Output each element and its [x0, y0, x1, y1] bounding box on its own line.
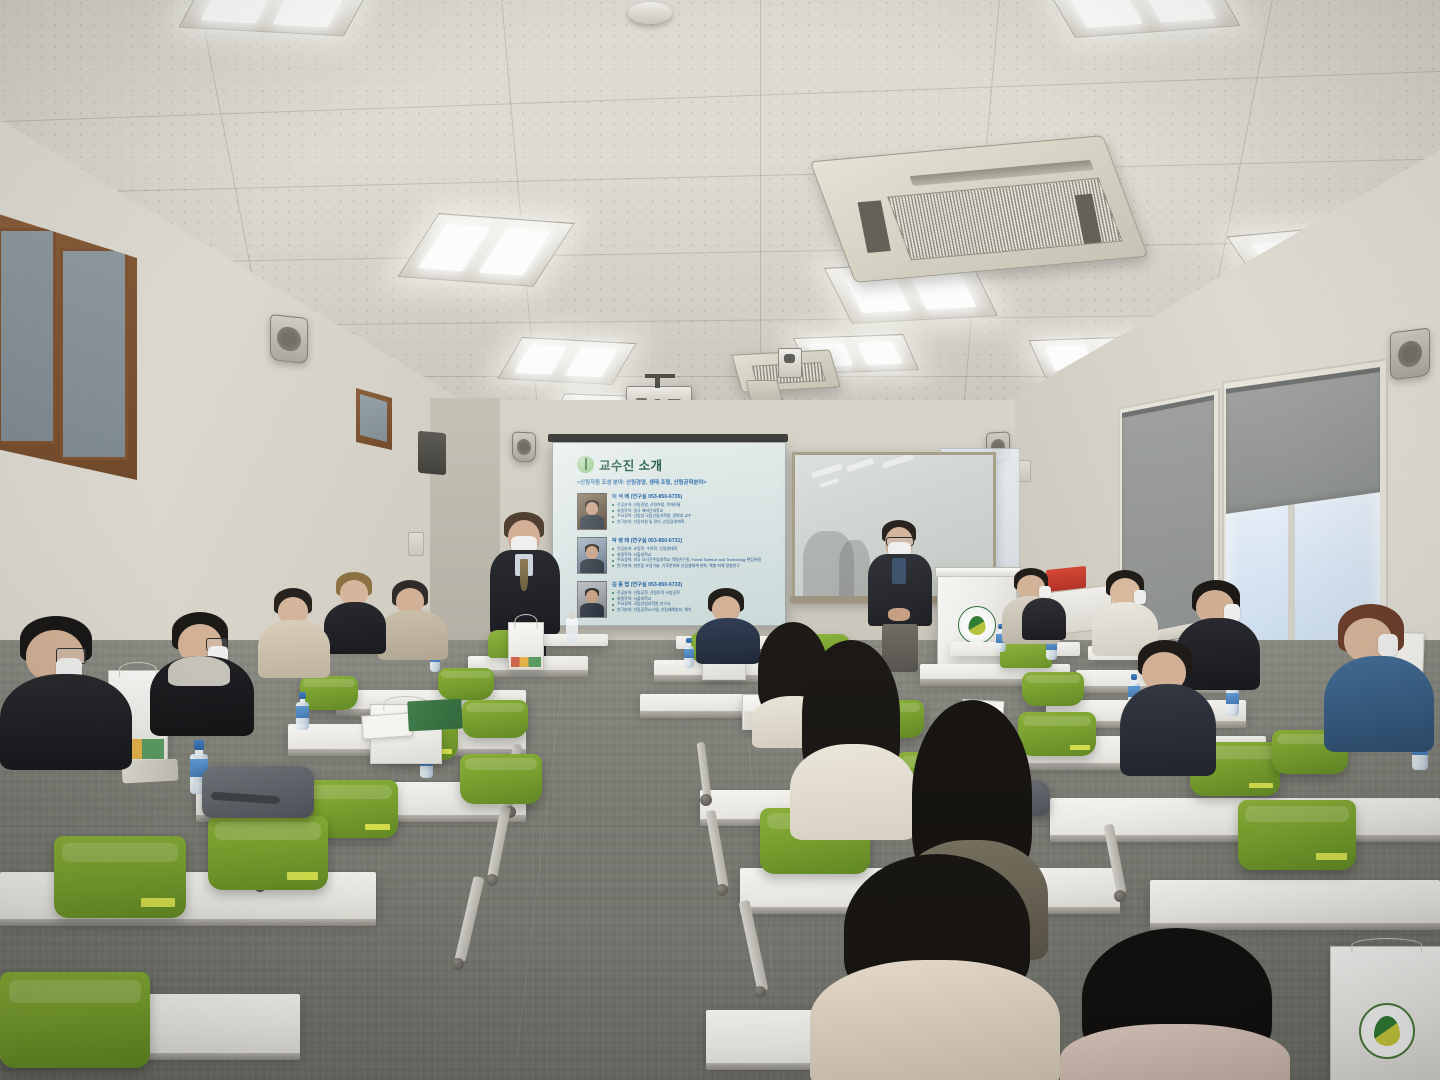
- wall-speaker: [270, 314, 308, 364]
- water-bottle: [684, 638, 694, 668]
- audience-member: [810, 854, 1060, 1080]
- intercom-panel[interactable]: [408, 532, 424, 556]
- professor-bullets: 전공분야: 산림경영, 산림측정, 목재유통 최종학력: 영국 애버딘대학교 주…: [612, 502, 692, 525]
- desk-caster: [716, 884, 728, 896]
- hand-sanitizer: [566, 618, 578, 644]
- professor-bullets: 전공분야: 조림학, 수목학, 산림생태학 최종학력: 서울대학교 주요경력: …: [612, 546, 761, 569]
- ceiling-cassette-air-conditioner: [810, 135, 1149, 283]
- audience-member: [378, 580, 448, 656]
- face-mask: [1134, 590, 1146, 604]
- ceiling-vent: [745, 380, 782, 402]
- green-classroom-chair[interactable]: [460, 754, 542, 804]
- slide-title-row: 교수진 소개: [577, 455, 662, 474]
- roller-blind[interactable]: [1226, 367, 1380, 514]
- university-seal-icon: [1359, 1003, 1415, 1059]
- slide-title: 교수진 소개: [599, 455, 662, 474]
- professor-bullet: 연구분야: 산림공학시스템, 산림재해방지, 해석: [612, 607, 692, 613]
- professor-photo: [577, 537, 607, 574]
- wooden-interior-window: [0, 212, 137, 480]
- professor-bullet: 연구분야: 산림자원 및 관리, 산림경영계획: [612, 519, 692, 525]
- classroom-desk: [1150, 880, 1440, 924]
- green-classroom-chair[interactable]: [1000, 640, 1052, 668]
- professor-name: 이 석 배 (연구실 053-850-6735): [612, 493, 692, 500]
- slide-subtitle: <산림자원 조성 분야: 산림경영, 생태·조림, 산림공학분야>: [577, 478, 706, 486]
- wall-speaker: [512, 431, 536, 462]
- water-bottle: [296, 692, 309, 730]
- dark-jacket: [324, 602, 386, 654]
- audience-member: [324, 572, 386, 652]
- professor-name: 박 병 태 (연구실 053-850-6731): [612, 537, 761, 544]
- smoke-detector: [628, 2, 672, 24]
- green-folder[interactable]: [407, 699, 462, 732]
- green-classroom-chair[interactable]: [54, 836, 186, 918]
- green-classroom-chair[interactable]: [462, 700, 528, 738]
- paper-gift-bag: [1330, 946, 1440, 1080]
- handout-paper[interactable]: [361, 712, 413, 739]
- beige-coat: [378, 610, 448, 660]
- audience-member: [1022, 576, 1066, 636]
- inner-shirt: [892, 558, 906, 584]
- audience-member: [1120, 640, 1216, 770]
- wooden-window-pane-small: [360, 394, 387, 442]
- beige-jacket: [258, 620, 330, 678]
- wall-equipment-panel: [418, 431, 446, 475]
- desk-caster: [452, 958, 464, 970]
- necktie: [520, 559, 528, 591]
- blue-jacket: [1324, 656, 1434, 752]
- slide-professor-entry: 박 병 태 (연구실 053-850-6731) 전공분야: 조림학, 수목학,…: [577, 537, 761, 574]
- professor-photo: [577, 581, 607, 618]
- navy-sweater: [1120, 684, 1216, 776]
- pink-sweater: [1060, 1024, 1290, 1080]
- audience-member: [1060, 928, 1290, 1080]
- university-seal-icon: [958, 606, 996, 644]
- paper-gift-bag: [508, 622, 544, 670]
- blue-jacket: [696, 618, 760, 664]
- audience-member: [150, 612, 254, 732]
- lecture-hall-photo: 교수진 소개 <산림자원 조성 분야: 산림경영, 생태·조림, 산림공학분야>…: [0, 0, 1440, 1080]
- wall-speaker: [1390, 328, 1430, 381]
- hood: [168, 656, 230, 686]
- professor-bullets: 전공분야: 산림공학, 산림토목·사방공학 최종학력: 서울대학교 주요경력: …: [612, 590, 692, 613]
- desk-caster: [700, 794, 712, 806]
- ceiling-light-fixture: [497, 337, 636, 385]
- audience-member: [696, 588, 760, 658]
- desk-caster: [754, 986, 766, 998]
- ceiling-camera: [778, 348, 802, 378]
- dark-jacket: [1022, 598, 1066, 640]
- projection-screen-case: [548, 434, 788, 442]
- face-mask: [1378, 634, 1398, 656]
- green-classroom-chair[interactable]: [0, 972, 150, 1068]
- tree-circle-logo-icon: [577, 456, 594, 473]
- desk-caster: [1114, 890, 1126, 902]
- green-classroom-chair[interactable]: [438, 668, 494, 700]
- window-mullion: [1288, 494, 1295, 655]
- professor-photo: [577, 493, 607, 530]
- professor-name: 김 동 엽 (연구실 053-850-6733): [612, 581, 692, 588]
- slide-professor-entry: 김 동 엽 (연구실 053-850-6733) 전공분야: 산림공학, 산림토…: [577, 581, 692, 618]
- green-classroom-chair[interactable]: [208, 816, 328, 890]
- backpack: [202, 766, 314, 818]
- audience-member: [0, 616, 132, 766]
- professor-bullet: 연구분야: 천연림 조림기술, 기후변화와 산림생태계 변화, 해충 피해 영향…: [612, 563, 761, 569]
- desk-caster: [486, 874, 498, 886]
- audience-member: [258, 588, 330, 674]
- dark-jacket: [0, 674, 132, 770]
- cream-sweater: [810, 960, 1060, 1080]
- slide-professor-entry: 이 석 배 (연구실 053-850-6735) 전공분야: 산림경영, 산림측…: [577, 493, 692, 530]
- clasped-hands: [888, 608, 910, 621]
- green-classroom-chair[interactable]: [1238, 800, 1356, 870]
- audience-member: [1324, 604, 1434, 744]
